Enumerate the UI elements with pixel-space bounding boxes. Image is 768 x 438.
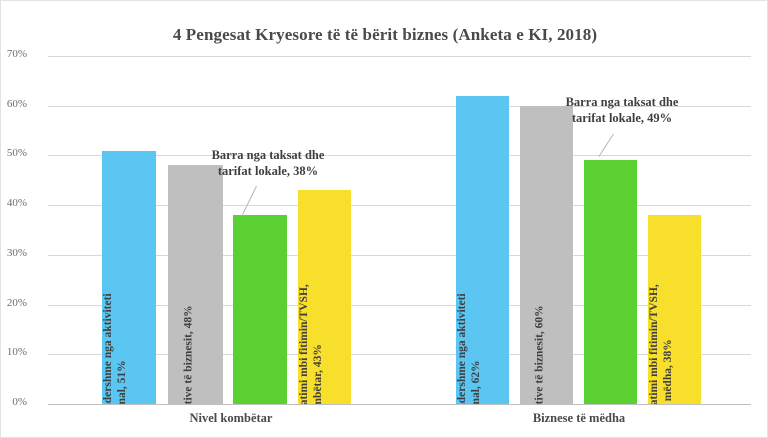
bar-value-label: Praktika korruptive të biznesit, 48%: [182, 306, 196, 404]
callout-line-1: Barra nga taksat dhe: [178, 148, 358, 164]
chart-title: 4 Pengesat Kryesore të të bërit biznes (…: [1, 25, 768, 45]
y-tick-30: 30%: [0, 247, 27, 259]
bar-value-label: Konkurrenca e pandershme nga aktiviteti …: [102, 281, 129, 404]
chart-container: 4 Pengesat Kryesore të të bërit biznes (…: [0, 0, 768, 438]
bar-value-label: Konkurrenca e pandershme nga aktiviteti …: [456, 281, 483, 404]
bar-group1-corrupt-practices[interactable]: Praktika korruptive të biznesit, 48%: [168, 165, 223, 404]
bar-value-label: Praktika korruptive të biznesit, 60%: [533, 306, 547, 404]
bar-group2-corrupt-practices[interactable]: Praktika korruptive të biznesit, 60%: [520, 106, 573, 404]
category-label-biznese-te-medha: Biznese të mëdha: [489, 411, 669, 426]
callout-leader-line-group2: [598, 134, 614, 157]
y-tick-10: 10%: [0, 346, 27, 358]
bar-group1-local-taxes[interactable]: [233, 215, 287, 404]
callout-line-2: tarifat lokale, 49%: [532, 111, 712, 127]
category-label-nivel-kombetar: Nivel kombëtar: [141, 411, 321, 426]
bar-group1-informal-competition[interactable]: Konkurrenca e pandershme nga aktiviteti …: [102, 151, 156, 404]
callout-line-1: Barra nga taksat dhe: [532, 95, 712, 111]
bar-value-label: Barra fiskale - TAP/tatimi mbi fitimin/T…: [648, 281, 675, 404]
plot-area: 70% 60% 50% 40% 30% 20% 10% 0% Konkurren…: [48, 56, 751, 404]
bar-group2-informal-competition[interactable]: Konkurrenca e pandershme nga aktiviteti …: [456, 96, 509, 404]
y-tick-40: 40%: [0, 197, 27, 209]
callout-local-taxes-group2: Barra nga taksat dhe tarifat lokale, 49%: [532, 95, 712, 126]
gridline-70: [48, 56, 751, 57]
bar-value-label: Barra fiskale - TAP/tatimi mbi fitimin/T…: [298, 281, 325, 404]
y-tick-20: 20%: [0, 297, 27, 309]
category-axis-line: [48, 404, 751, 405]
callout-local-taxes-group1: Barra nga taksat dhe tarifat lokale, 38%: [178, 148, 358, 179]
bar-group2-local-taxes[interactable]: [584, 160, 637, 404]
callout-line-2: tarifat lokale, 38%: [178, 164, 358, 180]
y-tick-50: 50%: [0, 147, 27, 159]
y-tick-70: 70%: [0, 48, 27, 60]
y-tick-60: 60%: [0, 98, 27, 110]
bar-group1-fiscal-burden[interactable]: Barra fiskale - TAP/tatimi mbi fitimin/T…: [298, 190, 351, 404]
callout-leader-line-group1: [241, 186, 257, 217]
y-tick-0: 0%: [0, 396, 27, 408]
bar-group2-fiscal-burden[interactable]: Barra fiskale - TAP/tatimi mbi fitimin/T…: [648, 215, 701, 404]
